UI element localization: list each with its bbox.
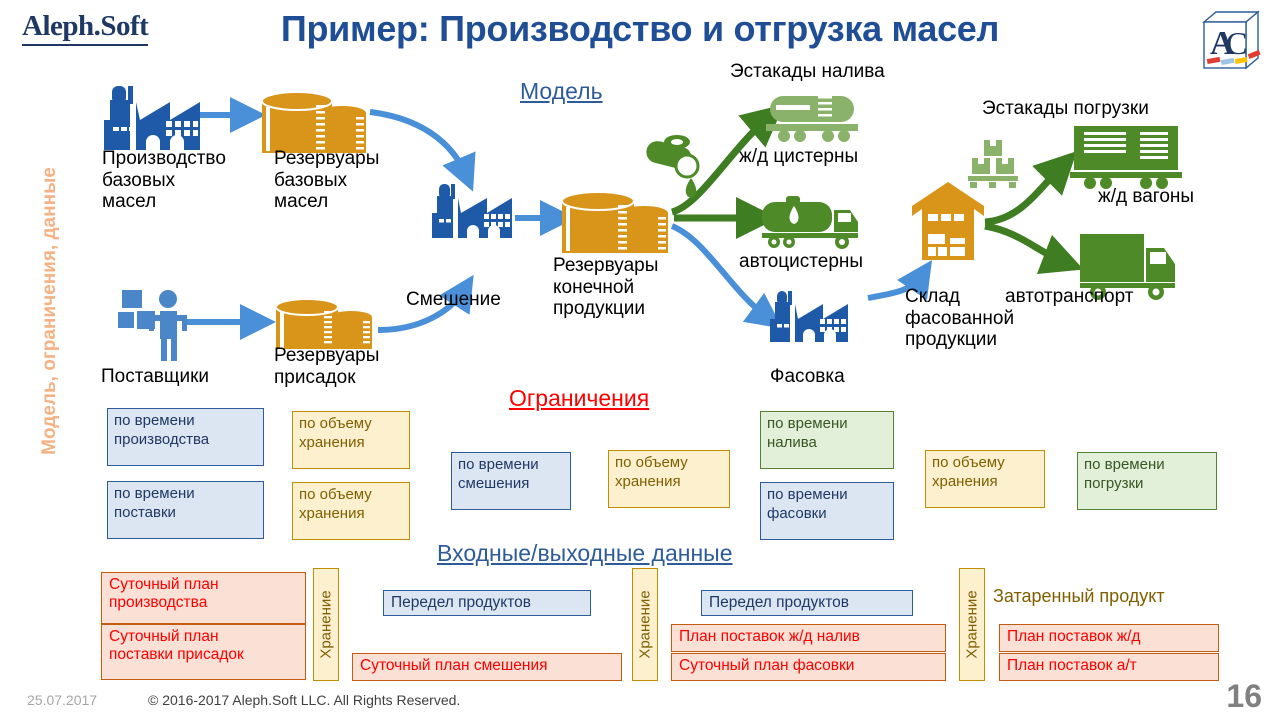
constraint-box-c10: по временипогрузки: [1077, 452, 1217, 510]
page-number: 16: [1226, 678, 1262, 715]
constraint-box-line: по объему: [299, 486, 404, 505]
data-box-line: Передел продуктов: [391, 594, 584, 612]
storage-vertical-label-s2: Хранение: [632, 568, 658, 681]
node-label-base-oil-production: Производствобазовыхмасел: [102, 148, 226, 213]
packed-product-label: Затаренный продукт: [993, 586, 1165, 607]
data-box-line: План поставок ж/д налив: [679, 628, 939, 646]
node-label-loading-racks: Эстакады налива: [730, 61, 885, 83]
storage-tanks-icon: [262, 92, 366, 153]
boxcar-icon: [1070, 126, 1182, 189]
pallet-boxes-icon: [968, 140, 1018, 188]
footer-date: 25.07.2017: [27, 692, 97, 708]
node-label-additive-tanks: Резервуарыприсадок: [274, 345, 379, 388]
node-label-shipping-racks: Эстакады погрузки: [982, 98, 1149, 120]
data-box-line: Суточный план: [109, 576, 299, 594]
node-label-base-oil-tanks: Резервуарыбазовыхмасел: [274, 148, 379, 213]
node-label-final-product-tanks: Резервуарыконечнойпродукции: [553, 255, 658, 320]
storage-tanks-icon: [562, 192, 668, 253]
constraint-box-line: фасовки: [767, 505, 888, 524]
factory-icon: [104, 86, 200, 150]
constraint-box-line: смешения: [458, 475, 565, 494]
node-label-rail-boxcars: ж/д вагоны: [1098, 186, 1194, 208]
node-label-suppliers: Поставщики: [101, 366, 209, 388]
node-label-road-tankers: автоцистерны: [739, 251, 863, 273]
data-box-line: Суточный план: [109, 628, 299, 646]
storage-vertical-label-s1: Хранение: [313, 568, 339, 681]
data-box-line: поставки присадок: [109, 646, 299, 664]
data-box-d4: Суточный план смешения: [352, 653, 622, 681]
node-label-packed-warehouse: Складфасованнойпродукции: [905, 286, 1014, 351]
constraint-box-line: по времени: [458, 456, 565, 475]
data-box-line: План поставок ж/д: [1007, 628, 1212, 646]
constraint-box-c4: по объемухранения: [292, 482, 410, 540]
constraint-box-line: хранения: [299, 434, 404, 453]
data-box-line: Суточный план смешения: [360, 657, 615, 675]
factory-icon: [770, 291, 848, 342]
node-label-packaging: Фасовка: [770, 366, 845, 388]
warehouse-icon: [912, 182, 984, 260]
constraint-box-c3: по объемухранения: [292, 411, 410, 469]
storage-vertical-label-text: Хранение: [964, 590, 981, 658]
constraint-box-c7: по времениналива: [760, 411, 894, 469]
data-box-d3: Передел продуктов: [383, 590, 591, 616]
constraint-box-line: по объему: [299, 415, 404, 434]
constraint-box-line: по времени: [114, 412, 258, 431]
data-box-line: План поставок а/т: [1007, 657, 1212, 675]
section-caption-data: Входные/выходные данные: [437, 540, 733, 567]
data-box-d6: План поставок ж/д налив: [671, 624, 946, 652]
valve-drop-icon: [644, 135, 698, 198]
rail-tank-car-icon: [766, 96, 858, 142]
constraint-box-c1: по временипроизводства: [107, 408, 264, 466]
storage-tanks-icon: [276, 299, 372, 349]
node-label-rail-tank-cars: ж/д цистерны: [739, 146, 858, 168]
road-tanker-icon: [762, 196, 858, 249]
constraint-box-line: по объему: [615, 454, 724, 473]
node-label-road-transport: автотранспорт: [1005, 286, 1133, 308]
storage-vertical-label-text: Хранение: [318, 590, 335, 658]
constraint-box-c5: по временисмешения: [451, 452, 571, 510]
constraint-box-line: хранения: [932, 473, 1039, 492]
data-box-d5: Передел продуктов: [701, 590, 913, 616]
supplier-worker-icon: [118, 290, 187, 361]
data-box-d1: Суточный планпроизводства: [101, 572, 306, 624]
constraint-box-line: хранения: [615, 473, 724, 492]
constraint-box-line: по времени: [767, 486, 888, 505]
constraint-box-line: по объему: [932, 454, 1039, 473]
factory-icon: [432, 184, 512, 238]
data-box-line: производства: [109, 594, 299, 612]
constraint-box-line: по времени: [767, 415, 888, 434]
node-label-blending: Смешение: [406, 289, 501, 311]
data-box-d7: Суточный план фасовки: [671, 653, 946, 681]
constraint-box-c6: по объемухранения: [608, 450, 730, 508]
storage-vertical-label-s3: Хранение: [959, 568, 985, 681]
constraint-box-line: налива: [767, 434, 888, 453]
storage-vertical-label-text: Хранение: [637, 590, 654, 658]
data-box-d9: План поставок а/т: [999, 653, 1219, 681]
constraint-box-line: хранения: [299, 505, 404, 524]
constraint-box-line: по времени: [1084, 456, 1211, 475]
constraint-box-c2: по временипоставки: [107, 481, 264, 539]
data-box-line: Суточный план фасовки: [679, 657, 939, 675]
footer-copyright: © 2016-2017 Aleph.Soft LLC. All Rights R…: [148, 692, 460, 708]
constraint-box-c9: по объемухранения: [925, 450, 1045, 508]
constraint-box-line: производства: [114, 431, 258, 450]
data-box-d8: План поставок ж/д: [999, 624, 1219, 652]
data-box-line: Передел продуктов: [709, 594, 906, 612]
constraint-box-c8: по временифасовки: [760, 482, 894, 540]
constraint-box-line: поставки: [114, 504, 258, 523]
constraint-box-line: по времени: [114, 485, 258, 504]
data-box-d2: Суточный планпоставки присадок: [101, 624, 306, 680]
constraint-box-line: погрузки: [1084, 475, 1211, 494]
